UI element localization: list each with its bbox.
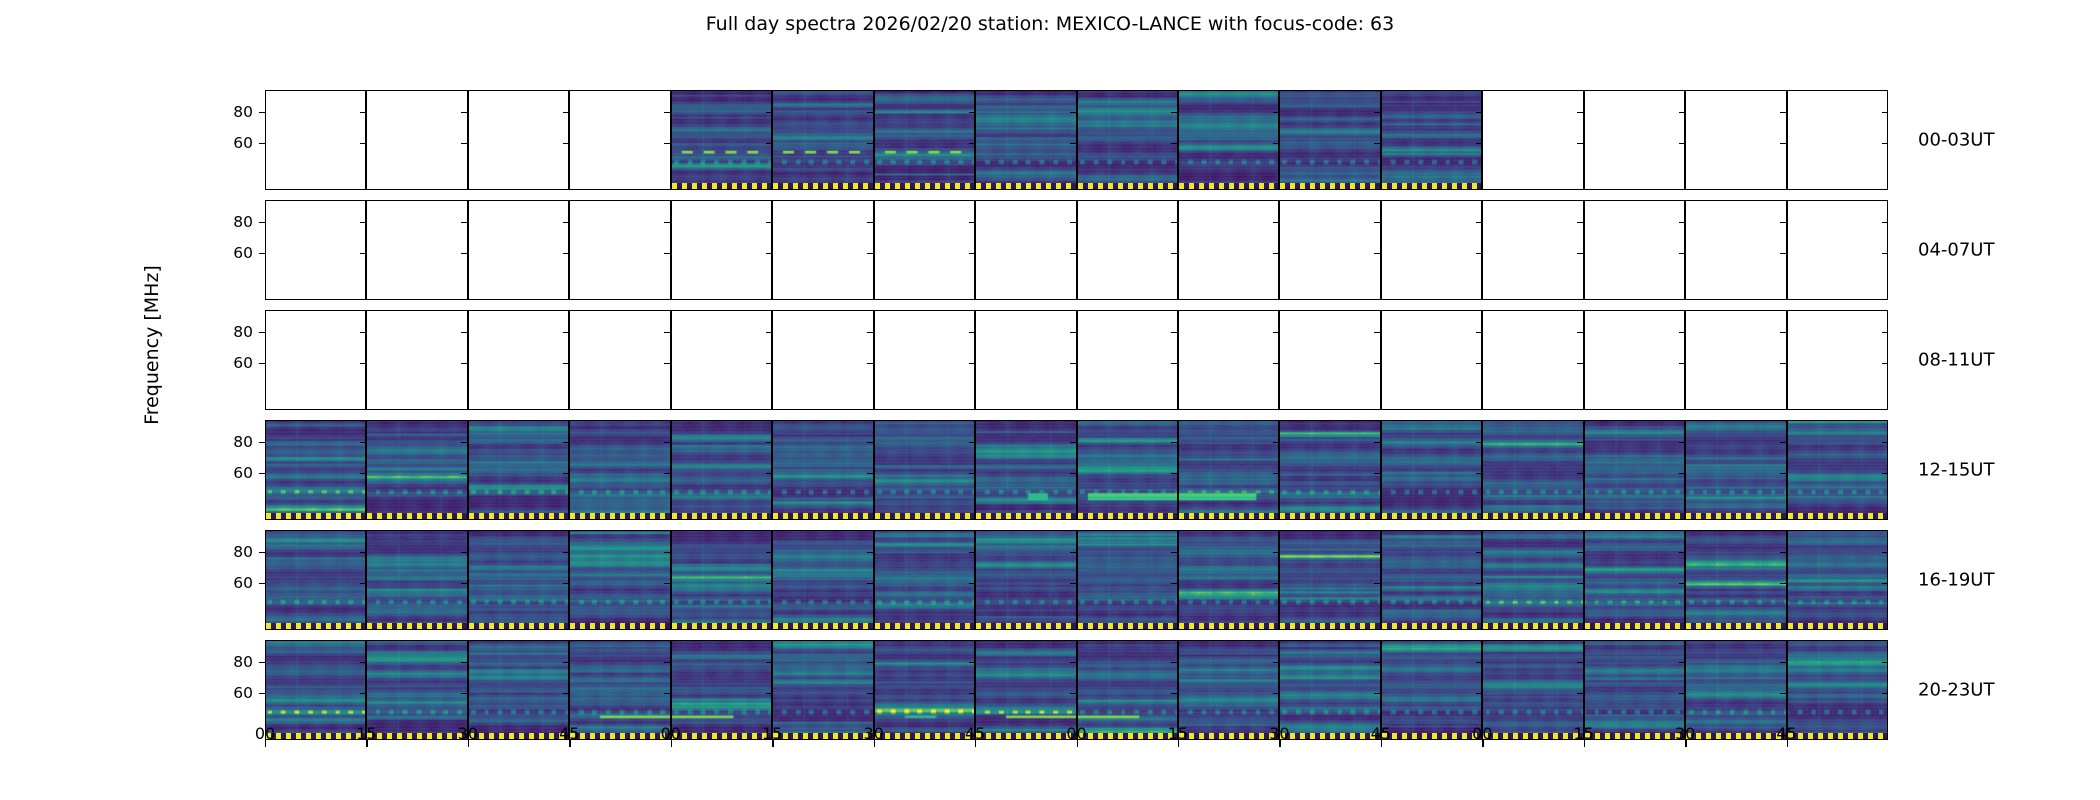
spectrogram-panel[interactable] [671,530,772,630]
spectrogram-panel[interactable] [366,420,467,520]
y-tick-mark [1882,473,1889,474]
row-label: 16-19UT [1918,570,1994,591]
empty-tile [1483,311,1582,409]
x-tick-label: 45 [1757,724,1817,743]
spectrogram-tile [1179,91,1278,189]
y-tick-mark [360,552,367,553]
spectrogram-panel[interactable] [671,200,772,300]
sounding-marker-bar [672,183,771,189]
spectrogram-panel[interactable] [468,530,569,630]
y-tick-mark [664,442,671,443]
y-tick-mark [664,552,671,553]
spectrogram-panel[interactable] [1584,200,1685,300]
sounding-marker-bar [773,623,872,629]
y-tick-label: 60 [213,684,253,702]
spectrogram-panel[interactable] [671,420,772,520]
empty-tile [367,201,466,299]
y-tick-mark [360,693,367,694]
y-tick-mark [969,552,976,553]
spectrogram-tile [367,531,466,629]
spectrogram-panel[interactable] [1685,200,1786,300]
empty-tile [570,311,669,409]
y-tick-mark [1273,693,1280,694]
y-tick-mark [360,583,367,584]
y-tick-mark [664,332,671,333]
spectrogram-panel[interactable] [569,530,670,630]
sounding-marker-bar [266,623,365,629]
y-tick-mark [1780,363,1787,364]
spectrogram-panel[interactable] [975,530,1076,630]
spectrogram-panel[interactable] [1381,200,1482,300]
y-tick-mark [969,693,976,694]
y-tick-mark [461,143,468,144]
y-tick-mark [259,112,266,113]
spectrogram-tile [1280,91,1379,189]
spectrogram-panel[interactable] [975,200,1076,300]
empty-tile [1585,311,1684,409]
y-tick-mark [1374,143,1381,144]
y-tick-mark [1577,332,1584,333]
spectrogram-tile [1078,91,1177,189]
spectrogram-tile [1483,531,1582,629]
y-tick-mark [1171,222,1178,223]
y-tick-mark [461,332,468,333]
spectrogram-panel[interactable] [1077,310,1178,410]
sounding-marker-bar [1483,513,1582,519]
y-tick-mark [1374,442,1381,443]
spectrogram-panel[interactable] [1482,530,1583,630]
spectrogram-panel[interactable] [671,310,772,410]
y-tick-mark [1273,253,1280,254]
y-tick-mark [766,143,773,144]
spectrogram-panel[interactable] [1077,530,1178,630]
y-tick-mark [563,332,570,333]
spectrogram-panel[interactable] [569,420,670,520]
empty-tile [1382,201,1481,299]
spectrogram-panel[interactable] [975,90,1076,190]
y-tick-mark [969,583,976,584]
spectrogram-panel[interactable] [366,310,467,410]
y-tick-mark [1780,662,1787,663]
sounding-marker-bar [1078,183,1177,189]
y-tick-mark [664,143,671,144]
sounding-marker-bar [976,183,1075,189]
sounding-marker-bar [672,623,771,629]
y-tick-mark [360,442,367,443]
spectrogram-panel[interactable] [671,90,772,190]
spectrogram-panel[interactable] [1077,90,1178,190]
x-tick-label: 45 [539,724,599,743]
empty-tile [469,91,568,189]
y-tick-mark [766,552,773,553]
spectrogram-panel[interactable] [1584,90,1685,190]
spectrogram-panel[interactable] [1787,200,1888,300]
y-tick-mark [259,222,266,223]
spectrogram-panel[interactable] [772,420,873,520]
spectrogram-panel[interactable] [1685,530,1786,630]
y-tick-mark [1679,473,1686,474]
y-tick-mark [867,363,874,364]
spectrogram-tile [875,531,974,629]
y-tick-mark [1476,473,1483,474]
y-tick-mark [969,662,976,663]
y-tick-mark [766,222,773,223]
y-tick-mark [664,363,671,364]
spectrogram-tile [469,421,568,519]
y-tick-mark [1374,693,1381,694]
spectrogram-panel[interactable] [1482,200,1583,300]
empty-tile [875,201,974,299]
y-tick-mark [1070,693,1077,694]
y-tick-mark [969,473,976,474]
spectrogram-panel[interactable] [1787,310,1888,410]
y-tick-mark [1374,552,1381,553]
y-tick-mark [1070,583,1077,584]
y-tick-mark [766,583,773,584]
spectrogram-tile [976,421,1075,519]
spectrogram-panel[interactable] [1381,90,1482,190]
y-tick-mark [969,363,976,364]
x-tick-label: 45 [945,724,1005,743]
spectrogram-panel[interactable] [1178,420,1279,520]
y-tick-mark [1476,332,1483,333]
spectrogram-tile [1179,421,1278,519]
y-tick-label: 60 [213,464,253,482]
y-tick-mark [360,112,367,113]
sounding-marker-bar [1280,623,1379,629]
spectrogram-panel[interactable] [265,310,366,410]
spectrogram-panel[interactable] [1279,90,1380,190]
sounding-marker-bar [976,623,1075,629]
sounding-marker-bar [1382,623,1481,629]
y-tick-mark [867,583,874,584]
spectrogram-panel[interactable] [874,310,975,410]
spectrogram-figure: Full day spectra 2026/02/20 station: MEX… [0,0,2100,800]
y-tick-mark [563,583,570,584]
x-tick-label: 30 [438,724,498,743]
sounding-marker-bar [1686,623,1785,629]
y-tick-mark [1577,442,1584,443]
empty-tile [367,311,466,409]
y-tick-label: 80 [213,653,253,671]
empty-tile [570,201,669,299]
spectrogram-panel[interactable] [366,530,467,630]
y-tick-mark [867,442,874,443]
empty-tile [1788,201,1887,299]
y-tick-mark [1171,442,1178,443]
row-label: 00-03UT [1918,130,1994,151]
spectrogram-panel[interactable] [874,200,975,300]
spectrogram-panel[interactable] [1482,420,1583,520]
spectrogram-tile [1686,531,1785,629]
y-tick-mark [1882,693,1889,694]
y-tick-mark [664,583,671,584]
spectrogram-panel[interactable] [1178,530,1279,630]
empty-tile [1585,91,1684,189]
spectrogram-panel[interactable] [874,90,975,190]
spectrogram-tile [773,531,872,629]
spectrogram-tile [773,91,872,189]
spectrogram-panel[interactable] [569,310,670,410]
empty-tile [266,311,365,409]
sounding-marker-bar [1280,513,1379,519]
sounding-marker-bar [1686,513,1785,519]
spectrogram-panel[interactable] [1077,420,1178,520]
y-tick-mark [1273,442,1280,443]
y-tick-mark [1577,143,1584,144]
y-tick-mark [1780,143,1787,144]
spectrogram-panel[interactable] [265,530,366,630]
y-tick-mark [1882,662,1889,663]
sounding-marker-bar [367,513,466,519]
y-tick-mark [766,332,773,333]
spectrogram-panel[interactable] [1279,310,1380,410]
y-tick-mark [1679,442,1686,443]
spectrogram-tile [1382,421,1481,519]
spectrogram-panel[interactable] [1077,200,1178,300]
y-tick-mark [1679,332,1686,333]
y-tick-mark [1882,222,1889,223]
spectrogram-panel[interactable] [468,420,569,520]
y-tick-mark [461,253,468,254]
y-tick-mark [1374,583,1381,584]
y-tick-mark [259,363,266,364]
row-label: 04-07UT [1918,240,1994,261]
spectrogram-panel[interactable] [1685,90,1786,190]
y-tick-mark [664,693,671,694]
empty-tile [672,201,771,299]
y-tick-mark [563,253,570,254]
spectrogram-tile [1382,531,1481,629]
empty-tile [1788,91,1887,189]
spectrogram-panel[interactable] [366,90,467,190]
y-tick-mark [1273,662,1280,663]
y-tick-mark [1374,112,1381,113]
sounding-marker-bar [1078,513,1177,519]
y-tick-mark [1374,253,1381,254]
y-tick-mark [461,442,468,443]
spectrogram-panel[interactable] [468,200,569,300]
y-tick-mark [969,143,976,144]
empty-tile [672,311,771,409]
y-tick-mark [1679,363,1686,364]
y-tick-mark [1070,332,1077,333]
spectrogram-panel[interactable] [1584,310,1685,410]
y-tick-mark [1679,253,1686,254]
y-tick-mark [259,253,266,254]
y-tick-mark [1374,332,1381,333]
empty-tile [266,201,365,299]
y-tick-mark [563,112,570,113]
spectrogram-tile [672,91,771,189]
spectrogram-tile [875,421,974,519]
spectrogram-panel[interactable] [1279,200,1380,300]
sounding-marker-bar [1280,183,1379,189]
y-tick-mark [1476,253,1483,254]
empty-tile [1686,91,1785,189]
y-tick-mark [1273,143,1280,144]
spectrogram-tile [1483,421,1582,519]
sounding-marker-bar [875,513,974,519]
y-tick-label: 80 [213,323,253,341]
empty-tile [1280,311,1379,409]
page-title: Full day spectra 2026/02/20 station: MEX… [0,13,2100,35]
sounding-marker-bar [773,513,872,519]
y-tick-mark [867,143,874,144]
sounding-marker-bar [1382,513,1481,519]
spectrogram-panel[interactable] [1482,310,1583,410]
y-tick-mark [1679,662,1686,663]
y-tick-mark [766,662,773,663]
y-tick-mark [1780,222,1787,223]
empty-tile [1179,201,1278,299]
y-tick-mark [1577,222,1584,223]
spectrogram-panel[interactable] [772,90,873,190]
y-tick-mark [1476,552,1483,553]
spectrogram-tile [1078,421,1177,519]
spectrogram-panel[interactable] [1279,530,1380,630]
y-tick-mark [1882,143,1889,144]
empty-tile [367,91,466,189]
spectrogram-panel[interactable] [1584,420,1685,520]
empty-tile [1483,201,1582,299]
spectrogram-panel[interactable] [874,530,975,630]
empty-tile [773,311,872,409]
empty-tile [1179,311,1278,409]
empty-tile [976,201,1075,299]
y-tick-mark [1780,473,1787,474]
empty-tile [1280,201,1379,299]
spectrogram-panel[interactable] [1685,420,1786,520]
y-tick-mark [1273,363,1280,364]
y-tick-mark [1374,363,1381,364]
y-tick-mark [1679,552,1686,553]
spectrogram-panel[interactable] [366,200,467,300]
y-tick-mark [461,583,468,584]
y-tick-mark [1679,112,1686,113]
y-tick-mark [360,473,367,474]
spectrogram-panel[interactable] [569,90,670,190]
y-tick-mark [259,693,266,694]
spectrogram-panel[interactable] [1178,90,1279,190]
y-tick-mark [1476,143,1483,144]
y-tick-mark [1780,332,1787,333]
spectrogram-panel[interactable] [1787,90,1888,190]
y-tick-mark [360,363,367,364]
x-tick-label: 00 [1452,724,1512,743]
empty-tile [1788,311,1887,409]
spectrogram-panel[interactable] [1178,200,1279,300]
spectrogram-panel[interactable] [1584,530,1685,630]
y-tick-mark [1476,662,1483,663]
y-tick-mark [1070,473,1077,474]
spectrogram-panel[interactable] [468,90,569,190]
spectrogram-panel[interactable] [1482,90,1583,190]
y-tick-mark [1679,222,1686,223]
spectrogram-panel[interactable] [772,200,873,300]
y-tick-mark [563,143,570,144]
spectrogram-panel[interactable] [772,530,873,630]
spectrogram-panel[interactable] [1381,530,1482,630]
spectrogram-panel[interactable] [468,310,569,410]
x-tick-label: 15 [742,724,802,743]
y-tick-mark [1476,442,1483,443]
spectrogram-tile [1686,421,1785,519]
y-tick-mark [766,112,773,113]
spectrogram-panel[interactable] [1685,310,1786,410]
y-tick-mark [1171,332,1178,333]
sounding-marker-bar [1788,623,1887,629]
y-tick-mark [867,693,874,694]
spectrogram-panel[interactable] [1381,310,1482,410]
y-tick-mark [969,112,976,113]
y-tick-mark [1273,332,1280,333]
y-tick-mark [1070,363,1077,364]
empty-tile [1382,311,1481,409]
y-tick-mark [563,363,570,364]
y-tick-mark [1171,693,1178,694]
spectrogram-panel[interactable] [1178,310,1279,410]
spectrogram-panel[interactable] [265,200,366,300]
y-tick-mark [1070,143,1077,144]
y-tick-mark [259,583,266,584]
y-tick-mark [563,222,570,223]
empty-tile [875,311,974,409]
spectrogram-panel[interactable] [569,200,670,300]
y-tick-mark [1577,583,1584,584]
y-tick-mark [1171,143,1178,144]
spectrogram-panel[interactable] [265,90,366,190]
y-tick-mark [1070,112,1077,113]
y-tick-mark [867,662,874,663]
x-tick-label: 30 [1655,724,1715,743]
spectrogram-panel[interactable] [772,310,873,410]
row-label: 08-11UT [1918,350,1994,371]
y-tick-mark [1476,583,1483,584]
spectrogram-tile [1280,531,1379,629]
spectrogram-panel[interactable] [975,310,1076,410]
y-tick-mark [766,473,773,474]
y-tick-mark [1577,253,1584,254]
spectrogram-panel[interactable] [1381,420,1482,520]
y-axis-label: Frequency [MHz] [141,235,163,455]
y-tick-mark [259,552,266,553]
y-tick-mark [1577,473,1584,474]
empty-tile [1078,201,1177,299]
y-tick-mark [1882,442,1889,443]
spectrogram-panel[interactable] [1279,420,1380,520]
y-tick-mark [766,363,773,364]
spectrogram-panel[interactable] [874,420,975,520]
y-tick-mark [664,662,671,663]
spectrogram-panel[interactable] [975,420,1076,520]
y-tick-mark [664,253,671,254]
y-tick-mark [461,662,468,663]
sounding-marker-bar [672,513,771,519]
sounding-marker-bar [469,623,568,629]
y-tick-mark [664,473,671,474]
spectrogram-panel[interactable] [1787,420,1888,520]
y-tick-mark [1780,583,1787,584]
spectrogram-tile [266,421,365,519]
spectrogram-panel[interactable] [1787,530,1888,630]
y-tick-mark [1882,583,1889,584]
spectrogram-panel[interactable] [265,420,366,520]
y-tick-mark [360,253,367,254]
sounding-marker-bar [1382,183,1481,189]
sounding-marker-bar [1179,623,1278,629]
y-tick-mark [360,143,367,144]
